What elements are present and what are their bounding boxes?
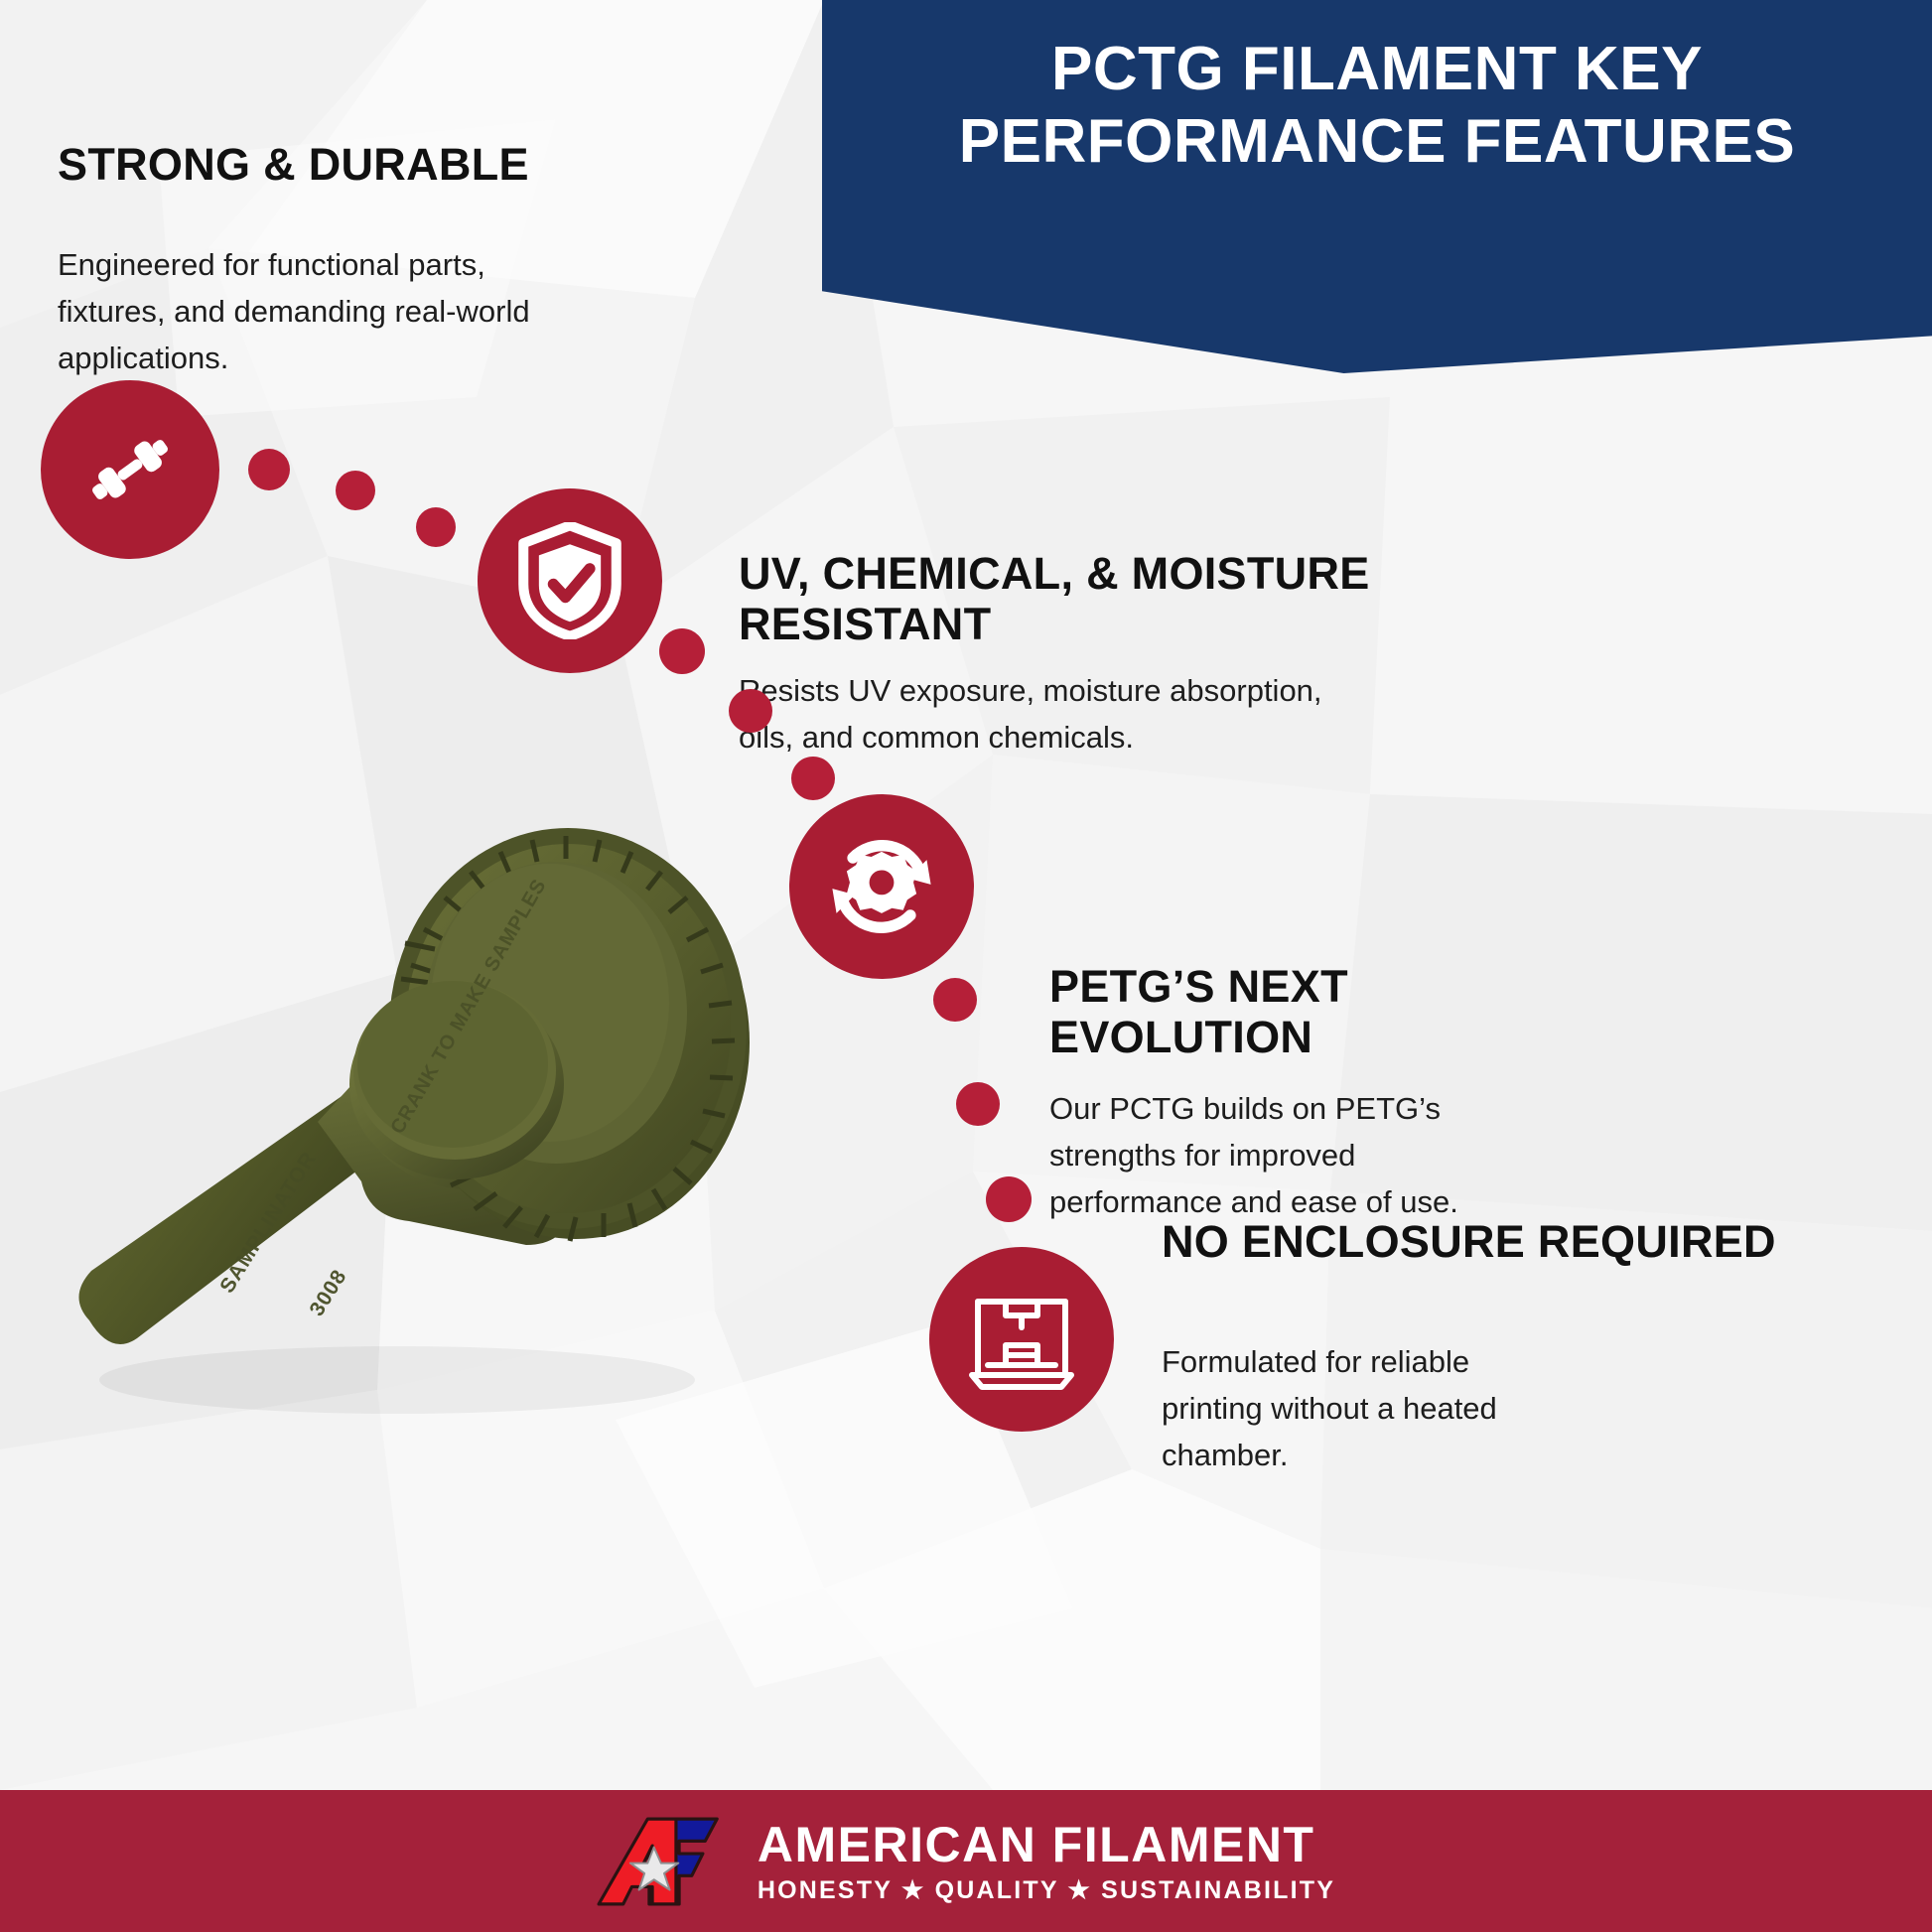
connector-dot	[416, 507, 456, 547]
feature-title-strong-durable: STRONG & DURABLE	[58, 139, 633, 190]
feature-title-petg-evolution: PETG’S NEXT EVOLUTION	[1049, 961, 1586, 1063]
icon-circle-no-enclosure	[929, 1247, 1114, 1432]
header-banner: PCTG FILAMENT KEY PERFORMANCE FEATURES	[822, 0, 1932, 373]
af-star-logo	[597, 1808, 732, 1915]
feature-title-uv-chemical: UV, CHEMICAL, & MOISTURE RESISTANT	[739, 548, 1374, 650]
feature-body-strong-durable: Engineered for functional parts, fixture…	[58, 241, 564, 381]
embossed-text-number: 3008	[306, 1266, 351, 1320]
footer-bar: AMERICAN FILAMENT HONESTY ★ QUALITY ★ SU…	[0, 1790, 1932, 1932]
feature-body-petg-evolution: Our PCTG builds on PETG’s strengths for …	[1049, 1085, 1486, 1225]
footer-text-block: AMERICAN FILAMENT HONESTY ★ QUALITY ★ SU…	[758, 1820, 1335, 1903]
connector-dot	[956, 1082, 1000, 1126]
infographic-page: PCTG FILAMENT KEY PERFORMANCE FEATURES S…	[0, 0, 1932, 1932]
connector-dot	[933, 978, 977, 1022]
dumbbell-icon	[78, 418, 182, 521]
connector-dot	[248, 449, 290, 490]
3d-printer-icon	[962, 1280, 1081, 1399]
icon-circle-strong-durable	[41, 380, 219, 559]
shield-check-icon	[514, 522, 625, 639]
page-title: PCTG FILAMENT KEY PERFORMANCE FEATURES	[856, 34, 1899, 178]
footer-tagline: HONESTY ★ QUALITY ★ SUSTAINABILITY	[758, 1878, 1335, 1903]
connector-dot	[986, 1176, 1032, 1222]
printed-gear-crank-part: CRANK TO MAKE SAMPLES SAMPLINATOR 3008	[20, 695, 874, 1449]
connector-dot	[659, 628, 705, 674]
feature-body-no-enclosure: Formulated for reliable printing without…	[1162, 1338, 1559, 1478]
footer-brand-name: AMERICAN FILAMENT	[758, 1820, 1335, 1869]
connector-dot	[336, 471, 375, 510]
icon-circle-uv-chemical	[478, 488, 662, 673]
product-photo: CRANK TO MAKE SAMPLES SAMPLINATOR 3008	[20, 695, 874, 1449]
feature-title-no-enclosure: NO ENCLOSURE REQUIRED	[1162, 1216, 1777, 1267]
